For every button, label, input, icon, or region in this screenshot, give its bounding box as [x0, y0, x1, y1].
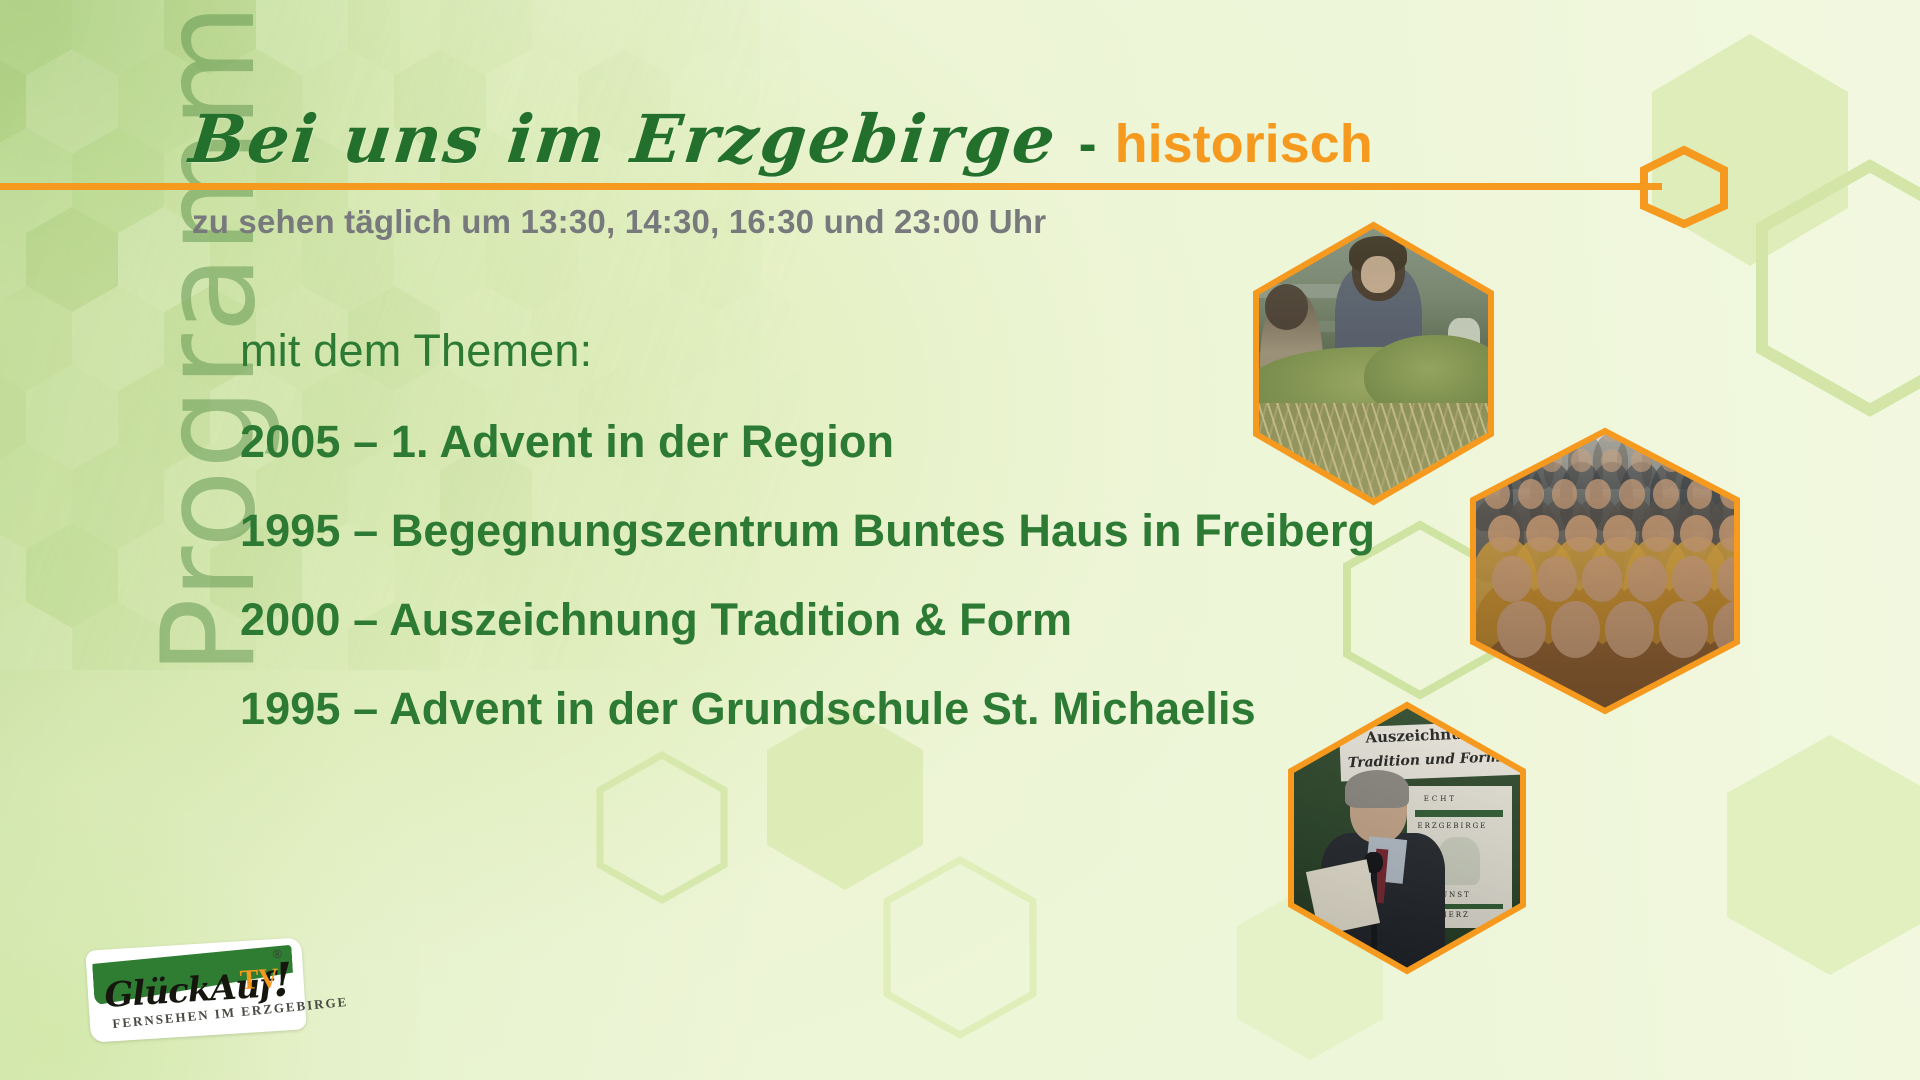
logo-registered-icon: ® — [273, 947, 283, 962]
title-main: Bei uns im Erzgebirge — [186, 100, 1061, 178]
decorative-hexagon-outline-4 — [880, 855, 1040, 1040]
header: Bei uns im Erzgebirge - historisch zu se… — [0, 100, 1920, 260]
topics-heading: mit dem Themen: — [240, 325, 1300, 377]
page-title: Bei uns im Erzgebirge - historisch — [190, 100, 1373, 178]
decorative-hexagon-filled-3 — [1720, 730, 1920, 980]
photo-crowd — [1470, 428, 1740, 714]
list-item: 2005 – 1. Advent in der Region — [240, 416, 1300, 468]
header-rule — [0, 183, 1662, 190]
broadcast-times: zu sehen täglich um 13:30, 14:30, 16:30 … — [192, 203, 1046, 241]
title-accent: historisch — [1115, 113, 1373, 175]
photo-workshop-image — [1253, 222, 1494, 505]
photo-workshop — [1253, 222, 1494, 505]
list-item: 1995 – Advent in der Grundschule St. Mic… — [240, 683, 1300, 735]
broadcast-slide: Programm Bei uns im Erzgebirge - histori… — [0, 0, 1920, 1080]
title-dash: - — [1079, 113, 1097, 175]
photo-speaker-image: Auszeichnung Tradition und Form ECHT ERZ… — [1288, 702, 1526, 974]
logo-glueckauf-tv[interactable]: GlückAuf! TV ® FERNSEHEN IM ERZGEBIRGE — [88, 944, 304, 1036]
hexagon-outline-icon — [1638, 146, 1730, 228]
list-item: 1995 – Begegnungszentrum Buntes Haus in … — [240, 505, 1300, 557]
photo-crowd-image — [1470, 428, 1740, 714]
topics-block: mit dem Themen: 2005 – 1. Advent in der … — [240, 325, 1300, 735]
list-item: 2000 – Auszeichnung Tradition & Form — [240, 594, 1300, 646]
photo-speaker: Auszeichnung Tradition und Form ECHT ERZ… — [1288, 702, 1526, 974]
decorative-hexagon-outline-3 — [595, 750, 730, 905]
logo-tv: TV — [239, 963, 280, 997]
